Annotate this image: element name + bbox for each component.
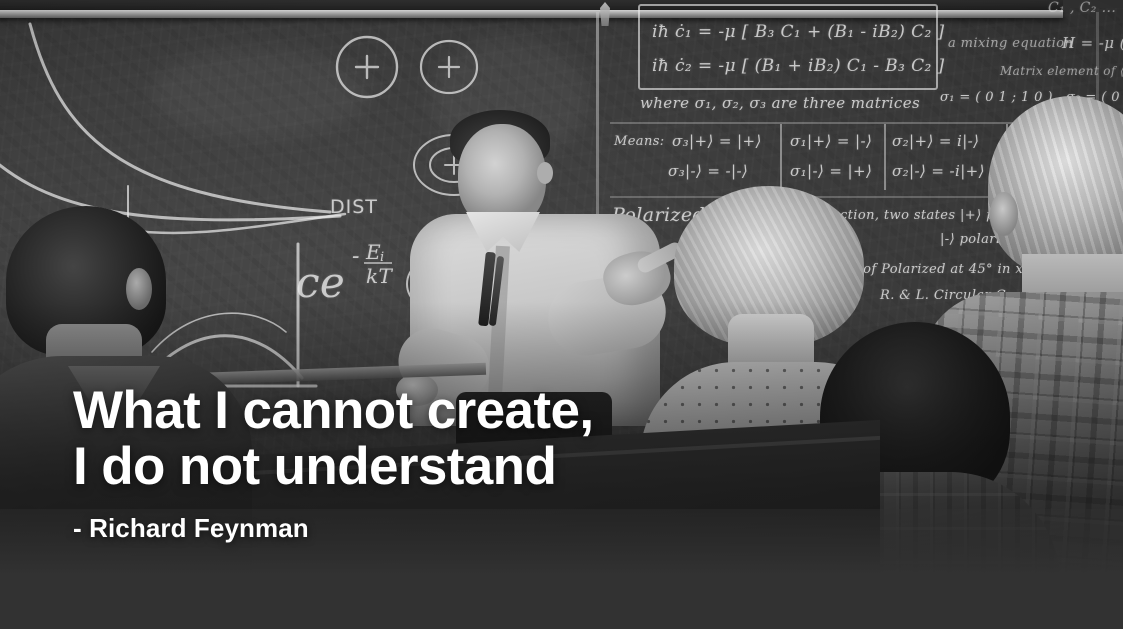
chalk-matrix-element-note: Matrix element of ⟨ | σ | ⟩ (1000, 64, 1123, 78)
man-right-hair-texture (988, 96, 1123, 276)
formula-exponent-denominator: kT (366, 264, 392, 288)
chalk-column-divider (884, 124, 886, 190)
chalk-where-line: where σ₁, σ₂, σ₃ are three matrices (640, 94, 920, 112)
formula-exponent-sign: - (352, 244, 360, 269)
chalk-means-row2-col1: σ₃|-⟩ = -|-⟩ (668, 162, 748, 180)
chalk-label-dist: DIST (330, 196, 378, 218)
chalk-c-note: C₁ , C₂ ... (1048, 0, 1116, 16)
man-left-ear (126, 268, 152, 310)
chalk-hamiltonian: H = -μ (σ · B) (1062, 34, 1123, 52)
formula-exponent-numerator: E (366, 240, 381, 264)
chalk-means-row1-col1: σ₃|+⟩ = |+⟩ (672, 132, 762, 150)
chalk-means-row2-col2: σ₁|-⟩ = |+⟩ (790, 162, 872, 180)
quote-card: DIST ce - E i kT iħ ċ₁ = -μ [ B₃ C₁ + (B… (0, 0, 1123, 629)
feynman-ear (537, 162, 553, 184)
chalk-means-row1-col2: σ₁|+⟩ = |-⟩ (790, 132, 872, 150)
man-right-ear (990, 192, 1018, 236)
positive-charge-circle-icon (414, 32, 484, 102)
chalk-boltzmann-formula: ce - E i kT (296, 258, 345, 307)
boxed-equation-frame (638, 4, 938, 90)
positive-charge-circle-icon (330, 30, 404, 104)
figure-feynman (400, 96, 660, 426)
formula-base: ce (296, 258, 345, 307)
chalk-mixing-annotation: a mixing equation (948, 36, 1073, 51)
boxed-equation-line-1: iħ ċ₁ = -μ [ B₃ C₁ + (B₁ - iB₂) C₂ ] (652, 22, 945, 42)
quote-block: What I cannot create, I do not understan… (73, 383, 593, 544)
quote-attribution: - Richard Feynman (73, 513, 593, 544)
boxed-equation-line-2: iħ ċ₂ = -μ [ (B₁ + iB₂) C₁ - B₃ C₂ ] (652, 56, 945, 76)
chalk-column-divider (780, 124, 782, 190)
quote-line-2: I do not understand (73, 439, 593, 495)
quote-line-1: What I cannot create, (73, 383, 593, 439)
